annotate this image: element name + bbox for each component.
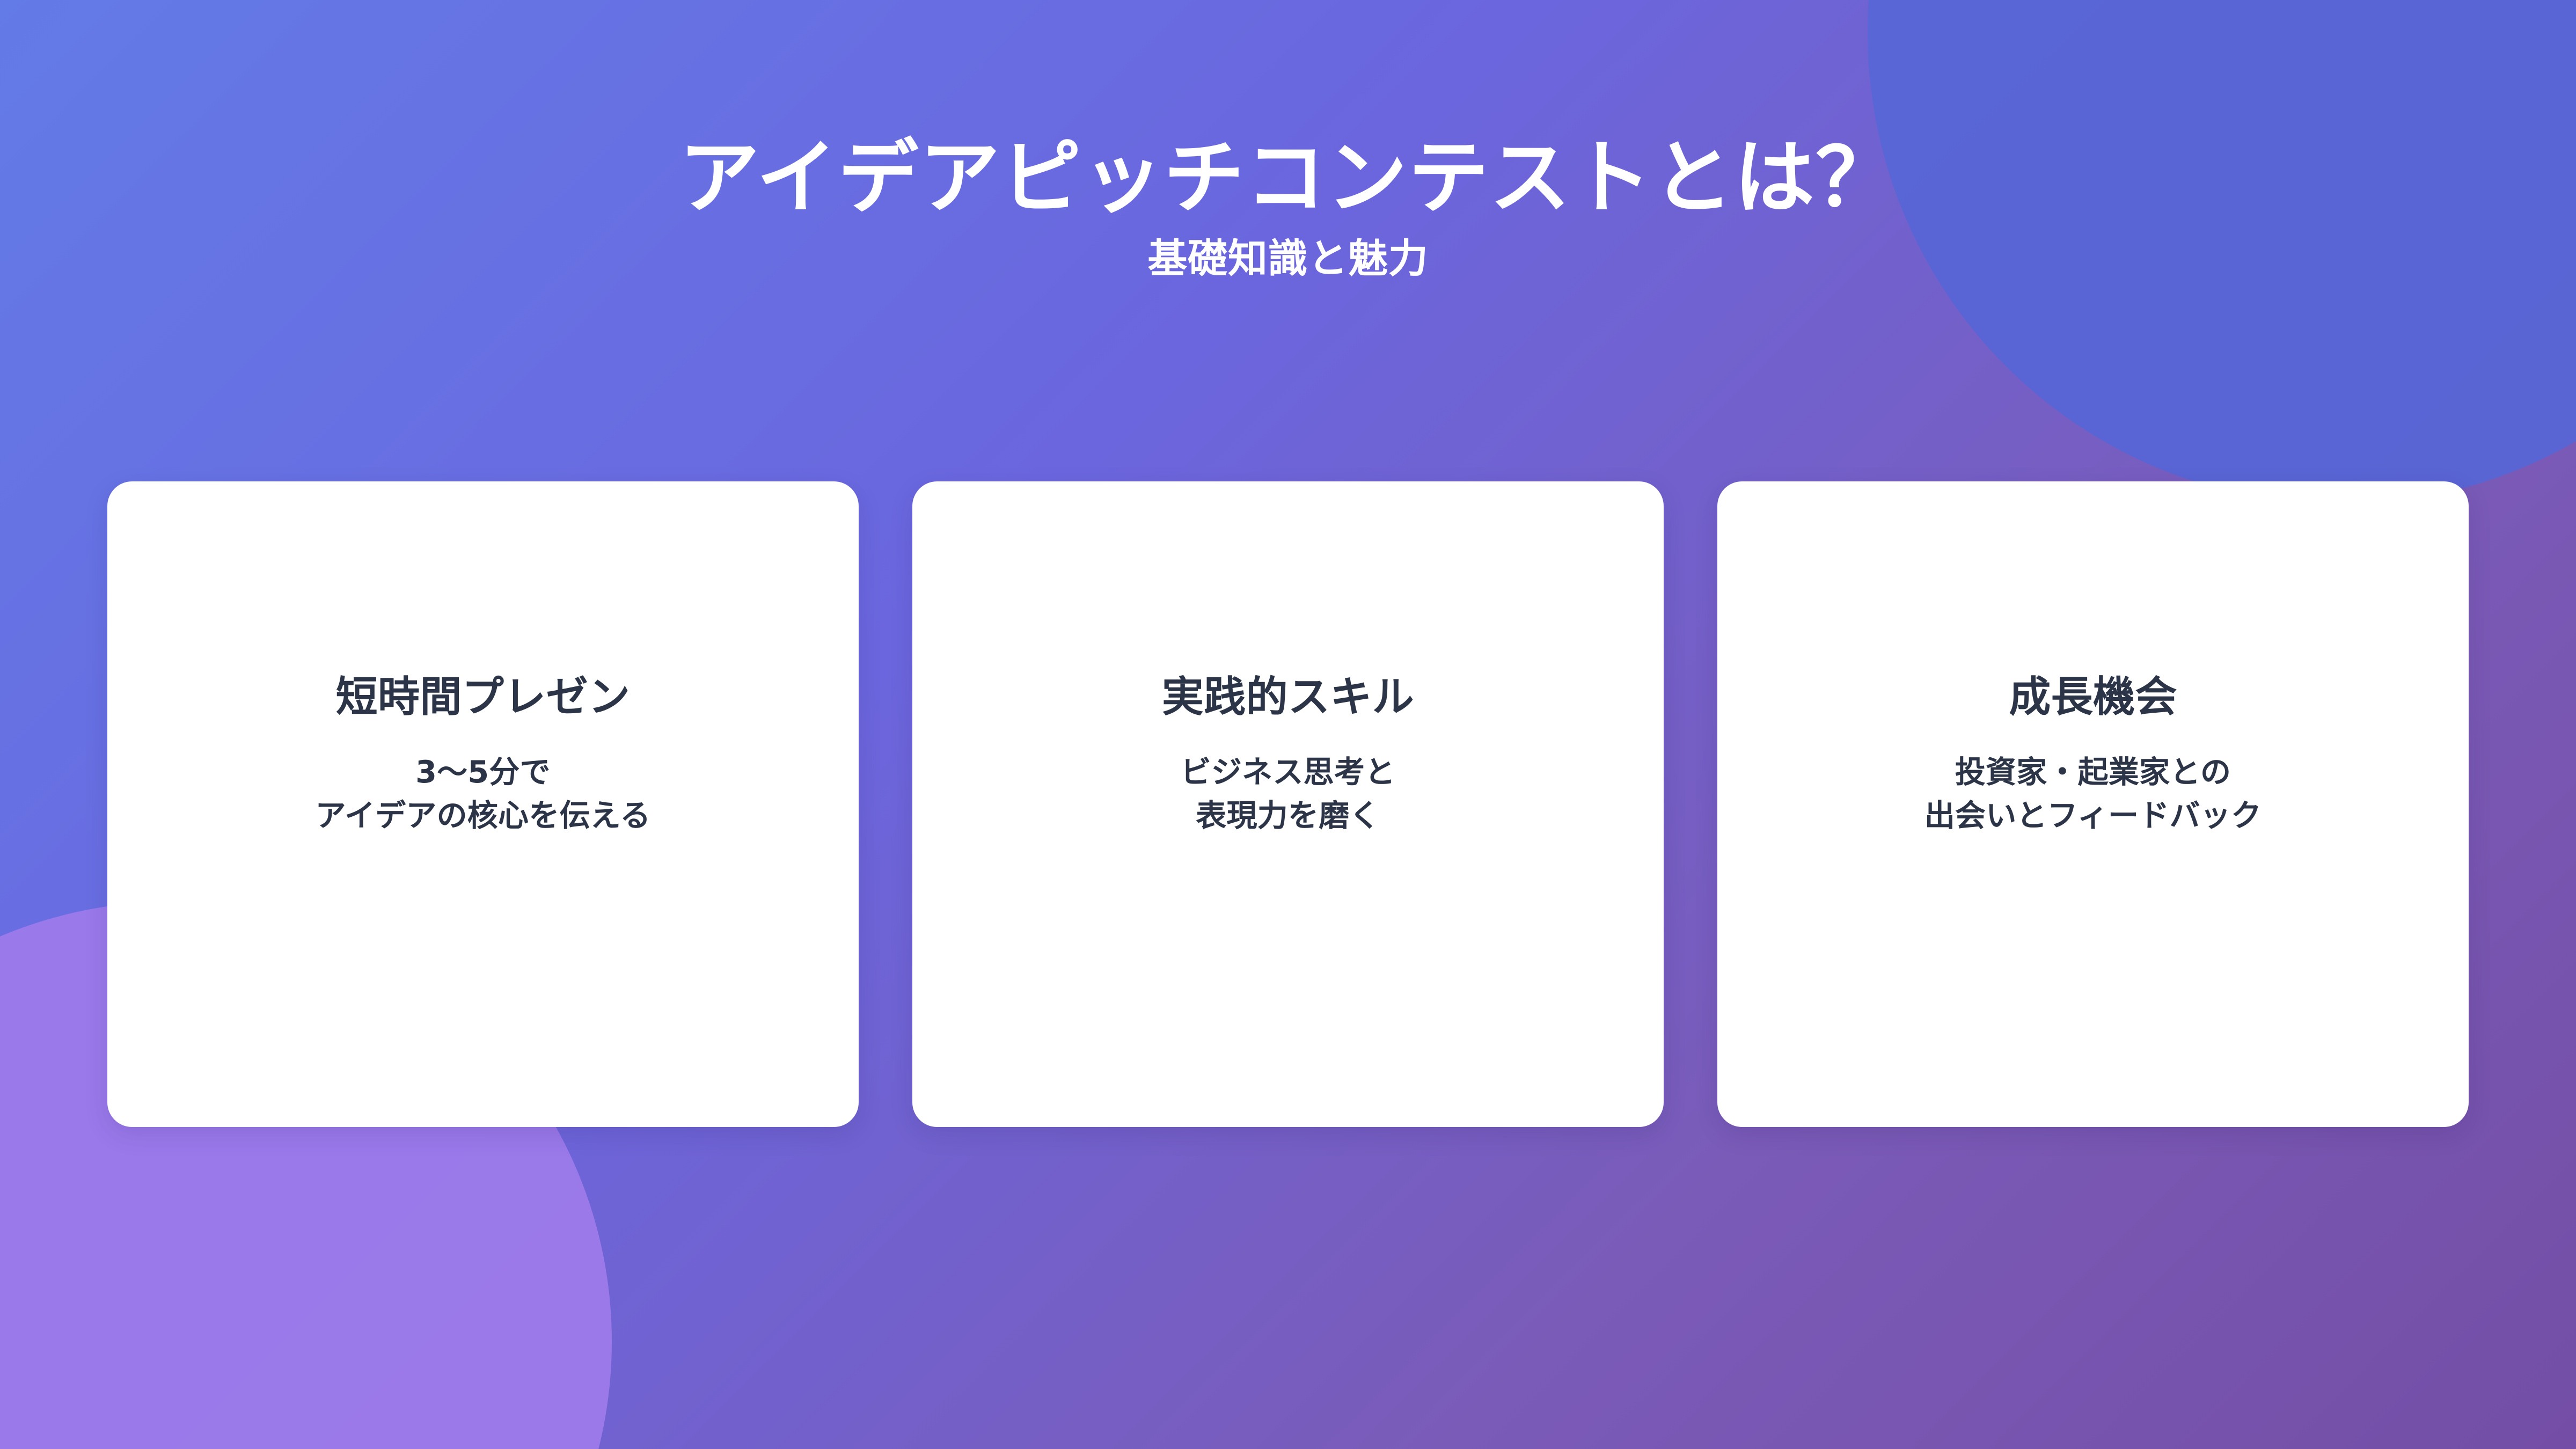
card-body: ビジネス思考と 表現力を磨く bbox=[1181, 751, 1396, 838]
feature-card-short-presentation: 短時間プレゼン 3〜5分で アイデアの核心を伝える bbox=[107, 481, 859, 1127]
slide-header: アイデアピッチコンテストとは？ 基礎知識と魅力 bbox=[0, 133, 2576, 284]
slide-title: アイデアピッチコンテストとは？ bbox=[0, 133, 2576, 223]
slide-subtitle: 基礎知識と魅力 bbox=[0, 234, 2576, 284]
feature-card-list: 短時間プレゼン 3〜5分で アイデアの核心を伝える 実践的スキル ビジネス思考と… bbox=[107, 481, 2469, 1127]
card-title: 短時間プレゼン bbox=[336, 672, 631, 723]
feature-card-growth-opportunity: 成長機会 投資家・起業家との 出会いとフィードバック bbox=[1717, 481, 2469, 1127]
card-title: 成長機会 bbox=[2009, 672, 2177, 723]
card-body: 投資家・起業家との 出会いとフィードバック bbox=[1924, 751, 2262, 838]
feature-card-practical-skills: 実践的スキル ビジネス思考と 表現力を磨く bbox=[912, 481, 1664, 1127]
card-title: 実践的スキル bbox=[1162, 672, 1414, 723]
presentation-slide: アイデアピッチコンテストとは？ 基礎知識と魅力 短時間プレゼン 3〜5分で アイ… bbox=[0, 0, 2576, 1449]
card-body: 3〜5分で アイデアの核心を伝える bbox=[316, 751, 651, 838]
